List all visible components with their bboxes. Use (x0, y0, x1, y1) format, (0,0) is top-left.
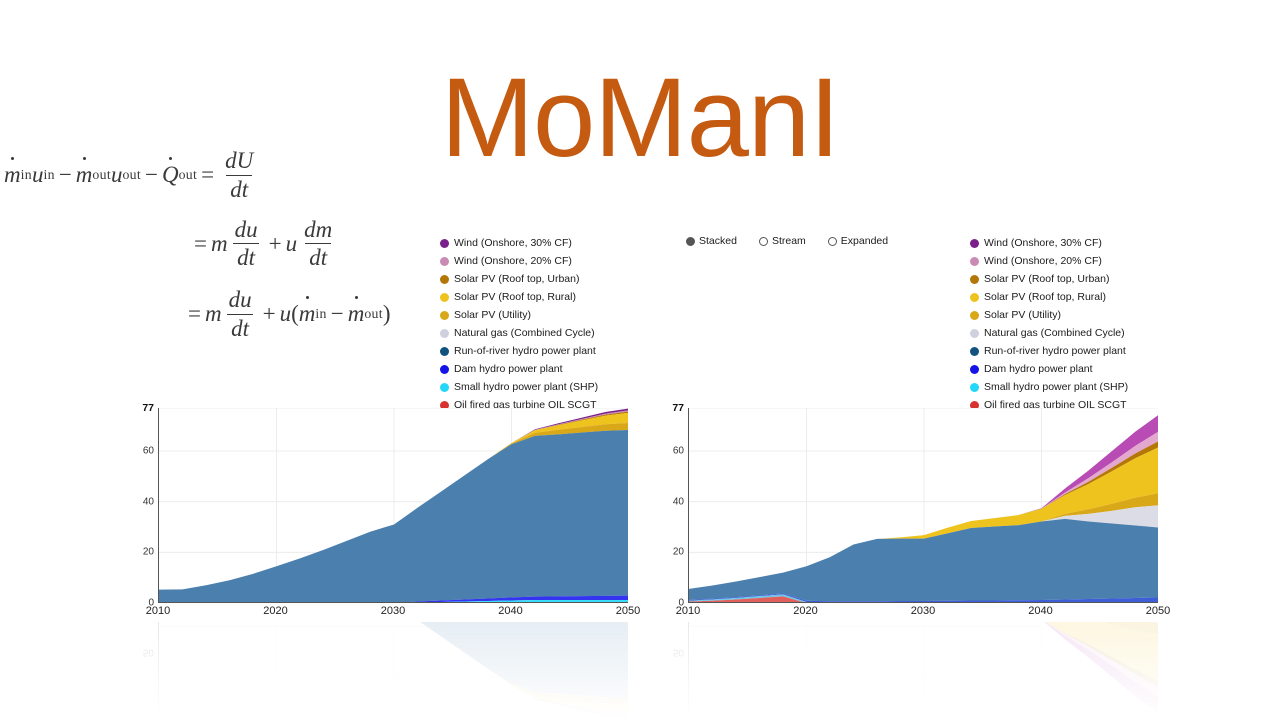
equation-line-1: minuin − moutuout − Qout = dU dt (4, 148, 404, 203)
mode-radio-stacked[interactable]: Stacked (686, 235, 737, 247)
legend-item[interactable]: Wind (Onshore, 30% CF) (970, 234, 1128, 252)
y-axis-left: 020406077 (128, 408, 154, 603)
legend-item[interactable]: Dam hydro power plant (440, 360, 598, 378)
area-chart-right[interactable]: 020406077 20102020203020402050 (658, 408, 1158, 608)
display-mode-toggle[interactable]: StackedStreamExpanded (686, 235, 910, 247)
legend-item-label: Wind (Onshore, 30% CF) (454, 234, 572, 252)
legend-swatch-icon (440, 239, 449, 248)
legend-item[interactable]: Solar PV (Roof top, Urban) (440, 270, 598, 288)
legend-item-label: Solar PV (Roof top, Rural) (984, 288, 1106, 306)
legend-item[interactable]: Small hydro power plant (SHP) (970, 378, 1128, 396)
y-tick-label: 40 (143, 496, 154, 507)
legend-item-label: Small hydro power plant (SHP) (454, 378, 598, 396)
equation-block: minuin − moutuout − Qout = dU dt =m du d… (4, 148, 404, 342)
y-tick-label: 20 (673, 547, 684, 558)
plot-area-right (688, 622, 1158, 720)
plot-area-left (158, 622, 628, 720)
chart-svg (689, 622, 1158, 720)
legend-item-label: Dam hydro power plant (454, 360, 563, 378)
slide-canvas: MoManI minuin − moutuout − Qout = dU dt … (0, 0, 1280, 720)
mode-radio-stream[interactable]: Stream (759, 235, 806, 247)
chart-reflection-copy[interactable]: 050 20102020203020402050 (128, 622, 628, 720)
area-chart-left[interactable]: 020406077 20102020203020402050 (128, 408, 628, 608)
x-tick-label: 2010 (146, 605, 170, 617)
y-axis-right: 050 (658, 622, 684, 720)
legend-item[interactable]: Wind (Onshore, 30% CF) (440, 234, 598, 252)
area-band (159, 622, 628, 718)
area-band (159, 622, 628, 715)
legend-item[interactable]: Run-of-river hydro power plant (440, 342, 598, 360)
mode-radio-expanded[interactable]: Expanded (828, 235, 888, 247)
area-band (159, 622, 628, 716)
chart-svg (689, 408, 1158, 603)
x-tick-label: 2030 (381, 605, 405, 617)
legend-item-label: Wind (Onshore, 20% CF) (984, 252, 1102, 270)
x-tick-label: 2050 (1146, 605, 1170, 617)
legend-item-label: Solar PV (Roof top, Urban) (984, 270, 1109, 288)
area-band (689, 622, 1158, 681)
x-axis-left: 20102020203020402050 (158, 605, 628, 623)
legend-item-label: Natural gas (Combined Cycle) (984, 324, 1125, 342)
y-tick-label: 60 (673, 446, 684, 457)
area-band (689, 622, 1158, 635)
radio-button-icon[interactable] (759, 237, 768, 246)
legend-item[interactable]: Solar PV (Roof top, Rural) (970, 288, 1128, 306)
chart-legend-right: Wind (Onshore, 30% CF)Wind (Onshore, 20%… (970, 234, 1128, 414)
legend-swatch-icon (970, 311, 979, 320)
legend-item[interactable]: Solar PV (Roof top, Rural) (440, 288, 598, 306)
x-tick-label: 2040 (1028, 605, 1052, 617)
area-band (689, 622, 1158, 697)
legend-swatch-icon (440, 383, 449, 392)
legend-swatch-icon (440, 329, 449, 338)
y-axis-right: 020406077 (658, 408, 684, 603)
legend-item-label: Natural gas (Combined Cycle) (454, 324, 595, 342)
legend-item[interactable]: Natural gas (Combined Cycle) (970, 324, 1128, 342)
legend-swatch-icon (970, 329, 979, 338)
legend-item[interactable]: Small hydro power plant (SHP) (440, 378, 598, 396)
legend-swatch-icon (440, 311, 449, 320)
y-tick-label: 77 (672, 402, 684, 414)
area-band (689, 622, 1158, 687)
chart-svg (159, 622, 628, 720)
y-tick-label: 77 (142, 402, 154, 414)
x-tick-label: 2020 (793, 605, 817, 617)
mode-radio-label: Stream (772, 235, 806, 247)
legend-swatch-icon (440, 293, 449, 302)
legend-item[interactable]: Wind (Onshore, 20% CF) (970, 252, 1128, 270)
chart-legend-left: Wind (Onshore, 30% CF)Wind (Onshore, 20%… (440, 234, 598, 414)
x-axis-right: 20102020203020402050 (688, 605, 1158, 623)
radio-button-icon[interactable] (828, 237, 837, 246)
plot-area-left[interactable] (158, 408, 628, 603)
x-tick-label: 2050 (616, 605, 640, 617)
y-axis-left: 050 (128, 622, 154, 720)
legend-item[interactable]: Run-of-river hydro power plant (970, 342, 1128, 360)
mode-radio-label: Expanded (841, 235, 888, 247)
legend-swatch-icon (970, 347, 979, 356)
legend-item[interactable]: Natural gas (Combined Cycle) (440, 324, 598, 342)
chart-reflection-copy[interactable]: 050 20102020203020402050 (658, 622, 1158, 720)
area-band (689, 622, 1158, 713)
legend-item-label: Run-of-river hydro power plant (454, 342, 596, 360)
mode-radio-label: Stacked (699, 235, 737, 247)
legend-item[interactable]: Solar PV (Roof top, Urban) (970, 270, 1128, 288)
legend-item[interactable]: Wind (Onshore, 20% CF) (440, 252, 598, 270)
equation-line-2: =m du dt +u dm dt (4, 217, 404, 272)
chart-reflection-right: 050 20102020203020402050 (658, 622, 1158, 720)
legend-item-label: Solar PV (Utility) (454, 306, 531, 324)
legend-swatch-icon (440, 365, 449, 374)
y-tick-label: 60 (143, 446, 154, 457)
reflection-y-tick-label: 50 (143, 646, 154, 657)
radio-button-icon[interactable] (686, 237, 695, 246)
legend-swatch-icon (970, 257, 979, 266)
area-band (159, 622, 628, 698)
legend-swatch-icon (970, 383, 979, 392)
plot-area-right[interactable] (688, 408, 1158, 603)
legend-swatch-icon (970, 293, 979, 302)
chart-reflection-left: 050 20102020203020402050 (128, 622, 628, 720)
legend-item-label: Run-of-river hydro power plant (984, 342, 1126, 360)
legend-item-label: Wind (Onshore, 20% CF) (454, 252, 572, 270)
legend-item-label: Small hydro power plant (SHP) (984, 378, 1128, 396)
legend-swatch-icon (440, 347, 449, 356)
legend-item[interactable]: Solar PV (Utility) (970, 306, 1128, 324)
legend-item[interactable]: Solar PV (Utility) (440, 306, 598, 324)
legend-item-label: Solar PV (Roof top, Urban) (454, 270, 579, 288)
legend-swatch-icon (970, 239, 979, 248)
equation-line-3: =m du dt +u(min −mout) (4, 287, 404, 342)
reflection-y-tick-label: 50 (673, 646, 684, 657)
legend-swatch-icon (440, 275, 449, 284)
legend-item-label: Dam hydro power plant (984, 360, 1093, 378)
area-band (159, 622, 628, 705)
legend-item-label: Solar PV (Roof top, Rural) (454, 288, 576, 306)
legend-swatch-icon (970, 365, 979, 374)
chart-svg (159, 408, 628, 603)
x-tick-label: 2040 (498, 605, 522, 617)
x-tick-label: 2030 (911, 605, 935, 617)
legend-item-label: Solar PV (Utility) (984, 306, 1061, 324)
legend-swatch-icon (970, 275, 979, 284)
legend-swatch-icon (440, 257, 449, 266)
x-tick-label: 2020 (263, 605, 287, 617)
y-tick-label: 40 (673, 496, 684, 507)
x-tick-label: 2010 (676, 605, 700, 617)
area-band (159, 622, 628, 719)
legend-item-label: Wind (Onshore, 30% CF) (984, 234, 1102, 252)
legend-item[interactable]: Dam hydro power plant (970, 360, 1128, 378)
y-tick-label: 20 (143, 547, 154, 558)
